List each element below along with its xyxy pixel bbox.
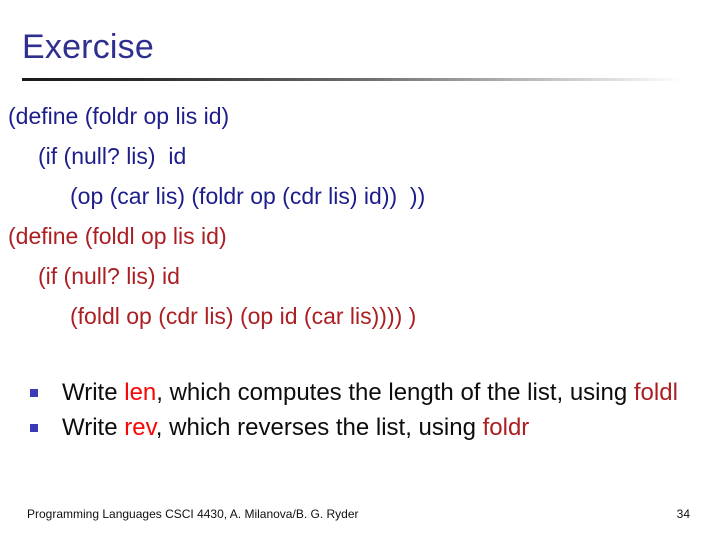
- bullet-text-segment: , which computes the length of the list,…: [156, 379, 634, 406]
- code-line: (if (null? lis) id: [8, 136, 708, 176]
- footer-course-text: Programming Languages CSCI 4430, A. Mila…: [27, 505, 359, 523]
- slide-footer: Programming Languages CSCI 4430, A. Mila…: [0, 505, 720, 529]
- title-block: Exercise: [22, 26, 682, 68]
- exercise-rev: Write rev, which reverses the list, usin…: [30, 412, 710, 443]
- bullet-square-icon: [30, 389, 38, 397]
- bullet-text-segment: len: [124, 379, 156, 406]
- title-divider-rule: [22, 78, 682, 81]
- code-listing-area: (define (foldr op lis id)(if (null? lis)…: [8, 96, 708, 336]
- code-line: (if (null? lis) id: [8, 256, 708, 296]
- bullet-text-segment: , which reverses the list, using: [156, 414, 483, 441]
- code-line: (foldl op (cdr lis) (op id (car lis)))) …: [8, 296, 708, 336]
- code-line: (define (foldl op lis id): [8, 216, 708, 256]
- slide-canvas: Exercise (define (foldr op lis id)(if (n…: [0, 0, 720, 540]
- bullet-text-segment: foldr: [483, 414, 530, 441]
- bullet-list: Write len, which computes the length of …: [30, 377, 710, 447]
- bullet-text-segment: Write: [62, 414, 124, 441]
- code-line: (define (foldr op lis id): [8, 96, 708, 136]
- bullet-text-segment: Write: [62, 379, 124, 406]
- bullet-square-icon: [30, 424, 38, 432]
- bullet-text-segment: rev: [124, 414, 156, 441]
- exercise-len: Write len, which computes the length of …: [30, 377, 710, 408]
- slide-number: 34: [677, 505, 690, 523]
- bullet-text: Write len, which computes the length of …: [62, 377, 710, 408]
- bullet-text: Write rev, which reverses the list, usin…: [62, 412, 710, 443]
- code-line: (op (car lis) (foldr op (cdr lis) id)) )…: [8, 176, 708, 216]
- page-title: Exercise: [22, 26, 682, 68]
- bullet-text-segment: foldl: [634, 379, 678, 406]
